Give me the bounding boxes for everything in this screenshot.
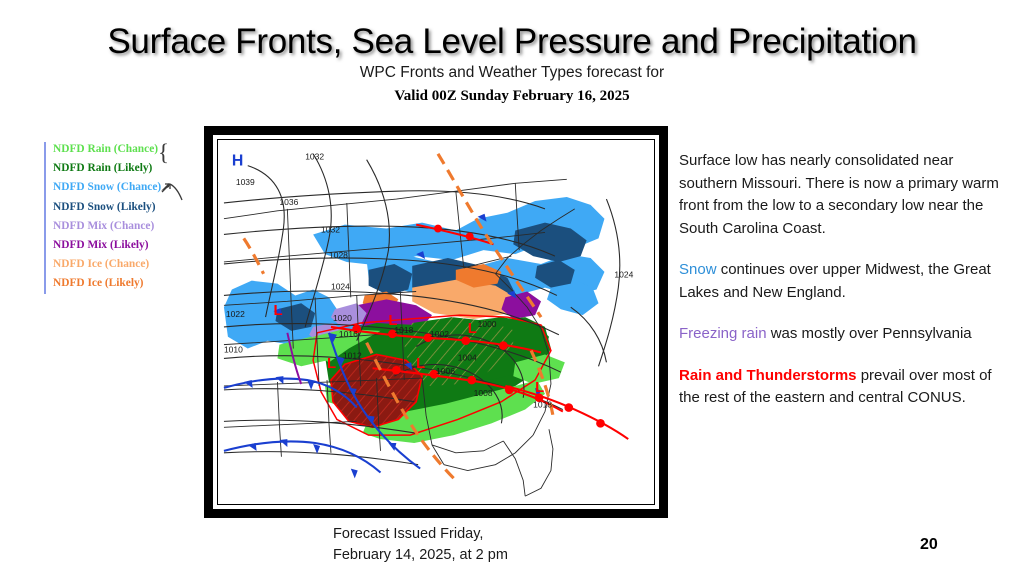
arrow-pointer-icon	[160, 178, 186, 204]
commentary-panel: Surface low has nearly consolidated near…	[679, 150, 1009, 429]
legend-item-rain-chance: NDFD Rain (Chance)	[44, 140, 204, 159]
svg-text:L: L	[535, 380, 544, 396]
high-pressure-marker: H	[232, 153, 243, 170]
svg-text:L: L	[327, 356, 336, 372]
svg-text:1024: 1024	[331, 282, 350, 292]
snow-keyword: Snow	[679, 261, 717, 278]
svg-text:1012: 1012	[343, 350, 362, 360]
commentary-paragraph-4: Rain and Thunderstorms prevail over most…	[679, 365, 1009, 410]
svg-text:1010: 1010	[224, 345, 243, 355]
weather-map[interactable]: H L L L L L L 1032 1039 1036 1032 1028 1…	[218, 140, 654, 504]
subtitle-valid-time: Valid 00Z Sunday February 16, 2025	[0, 88, 1024, 105]
svg-text:1004: 1004	[458, 352, 477, 362]
svg-text:L: L	[273, 303, 282, 319]
legend-item-ice-likely: NDFD Ice (Likely)	[44, 274, 204, 293]
svg-text:1006: 1006	[436, 366, 455, 376]
forecast-issued-line1: Forecast Issued Friday,	[333, 524, 663, 545]
svg-text:1039: 1039	[236, 177, 255, 187]
svg-text:L: L	[468, 321, 477, 337]
legend-item-ice-chance: NDFD Ice (Chance)	[44, 255, 204, 274]
legend-accent-bar	[44, 142, 46, 294]
commentary-paragraph-2: Snow continues over upper Midwest, the G…	[679, 259, 1009, 304]
legend-item-rain-likely: NDFD Rain (Likely)	[44, 159, 204, 178]
svg-text:1020: 1020	[333, 313, 352, 323]
weather-map-inner-mat: H L L L L L L 1032 1039 1036 1032 1028 1…	[213, 135, 659, 509]
commentary-paragraph-3: Freezing rain was mostly over Pennsylvan…	[679, 323, 1009, 346]
svg-text:1032: 1032	[321, 225, 340, 235]
commentary-paragraph-3-rest: was mostly over Pennsylvania	[767, 325, 972, 342]
svg-text:1002: 1002	[430, 329, 449, 339]
svg-text:1000: 1000	[478, 319, 497, 329]
commentary-paragraph-1: Surface low has nearly consolidated near…	[679, 150, 1009, 240]
weather-map-border: H L L L L L L 1032 1039 1036 1032 1028 1…	[217, 139, 655, 505]
brace-pointer-icon: }	[158, 140, 169, 166]
legend-item-mix-chance: NDFD Mix (Chance)	[44, 217, 204, 236]
svg-text:1008: 1008	[474, 388, 493, 398]
freezing-rain-keyword: Freezing rain	[679, 325, 767, 342]
legend-item-mix-likely: NDFD Mix (Likely)	[44, 236, 204, 255]
precip-legend: NDFD Rain (Chance) NDFD Rain (Likely) ND…	[44, 140, 204, 294]
forecast-issued-caption: Forecast Issued Friday, February 14, 202…	[333, 524, 663, 566]
svg-text:1024: 1024	[614, 270, 633, 280]
svg-text:1018: 1018	[533, 400, 552, 410]
forecast-issued-line2: February 14, 2025, at 2 pm	[333, 545, 663, 566]
page-number: 20	[920, 536, 938, 554]
svg-text:1036: 1036	[279, 197, 298, 207]
subtitle-source: WPC Fronts and Weather Types forecast fo…	[0, 64, 1024, 82]
svg-text:1032: 1032	[305, 152, 324, 162]
weather-map-frame: H L L L L L L 1032 1039 1036 1032 1028 1…	[204, 126, 668, 518]
svg-text:L: L	[416, 356, 425, 372]
rain-thunderstorms-keyword: Rain and Thunderstorms	[679, 367, 857, 384]
svg-text:1028: 1028	[329, 250, 348, 260]
commentary-paragraph-2-rest: continues over upper Midwest, the Great …	[679, 261, 991, 301]
page-title: Surface Fronts, Sea Level Pressure and P…	[0, 22, 1024, 62]
svg-text:1018: 1018	[394, 325, 413, 335]
svg-text:1016: 1016	[339, 329, 358, 339]
svg-text:1022: 1022	[226, 309, 245, 319]
